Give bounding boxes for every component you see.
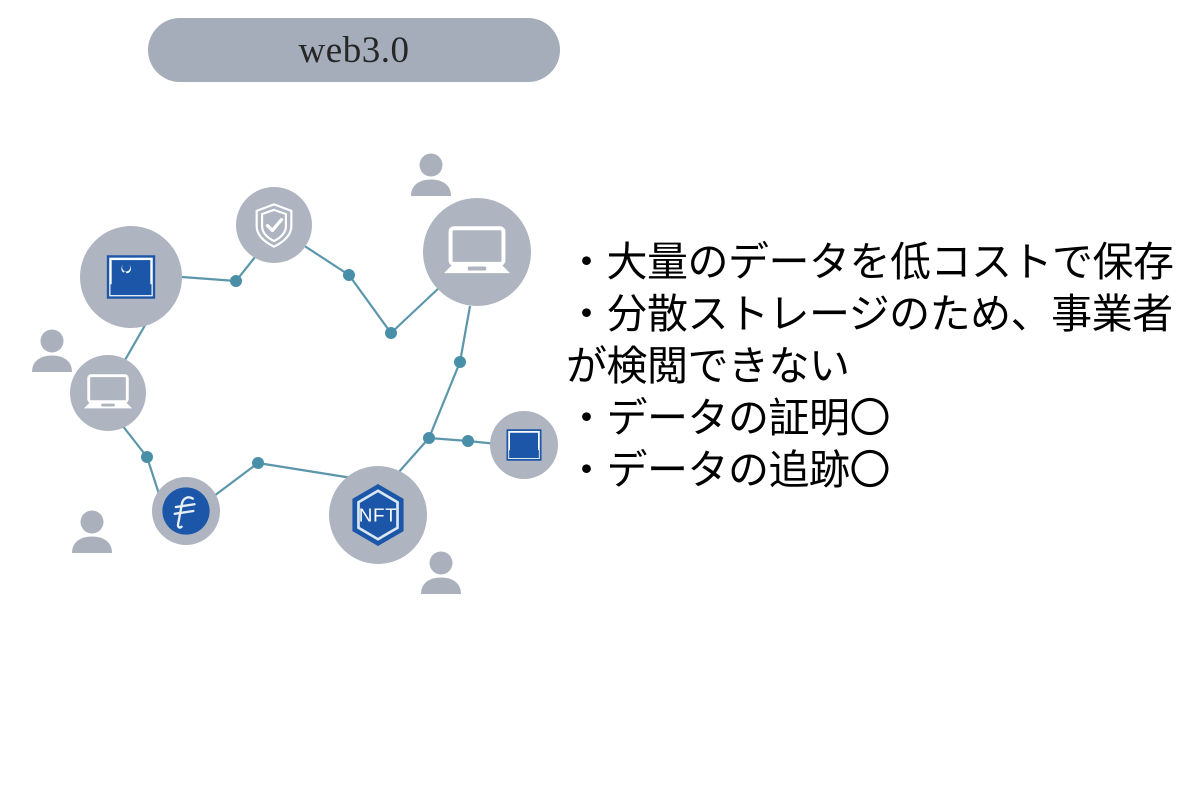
- node-shield[interactable]: [236, 187, 312, 263]
- image-icon: [102, 248, 160, 306]
- node-nft[interactable]: NFT: [329, 466, 427, 564]
- person-icon-mid-left: [27, 328, 77, 376]
- person-icon: [67, 509, 117, 557]
- person-icon-top-right: [406, 152, 456, 200]
- nft-label: NFT: [359, 505, 398, 526]
- node-image-small[interactable]: [490, 411, 558, 479]
- image-icon: [503, 424, 545, 466]
- filecoin-icon: [159, 484, 213, 538]
- person-icon: [406, 152, 456, 200]
- laptop-icon: [440, 215, 514, 289]
- person-icon-bottom-left: [67, 509, 117, 557]
- node-image-large[interactable]: [80, 226, 182, 328]
- laptop-icon: [81, 366, 135, 420]
- node-laptop-top[interactable]: [423, 198, 531, 306]
- link-vertex-dots: [141, 269, 474, 469]
- web3-network-diagram: NFT: [0, 0, 600, 640]
- nft-icon: NFT: [343, 480, 413, 550]
- person-icon: [27, 328, 77, 376]
- node-filecoin[interactable]: [152, 477, 220, 545]
- person-icon: [416, 550, 466, 598]
- shield-check-icon: [248, 199, 300, 251]
- feature-list-text: ・大量のデータを低コストで保存 ・分散ストレージのため、事業者が検閲できない ・…: [566, 236, 1186, 496]
- person-icon-bottom-right: [416, 550, 466, 598]
- node-laptop-left[interactable]: [70, 355, 146, 431]
